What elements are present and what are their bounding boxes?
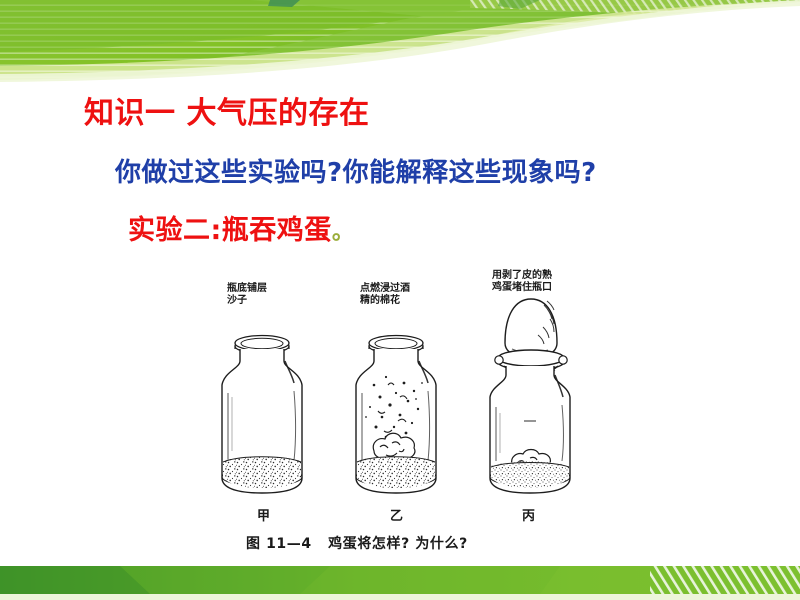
textbook-figure: 瓶底铺层 沙子 点燃浸过酒 精的棉花 用剥了皮的熟 鸡蛋堵住瓶口 甲 乙 丙 图… [200, 265, 600, 560]
bottle-label-yi: 乙 [390, 505, 403, 524]
bottle-bing [490, 299, 570, 493]
annotation-bottle-bing: 用剥了皮的熟 鸡蛋堵住瓶口 [492, 270, 552, 293]
bottle-jia [222, 336, 302, 494]
bottle-label-jia: 甲 [257, 505, 270, 524]
annotation-bottle-yi: 点燃浸过酒 精的棉花 [360, 283, 410, 306]
annotation-bottle-jia: 瓶底铺层 沙子 [227, 283, 267, 306]
experiment-heading-period: 。 [332, 220, 355, 245]
bottom-decorative-banner [0, 562, 800, 600]
subtitle-question: 你做过这些实验吗?你能解释这些现象吗? [115, 152, 597, 189]
bottle-label-bing: 丙 [522, 505, 535, 524]
bottom-edge-strip [0, 594, 800, 600]
page-title: 知识一 大气压的存在 [84, 88, 369, 132]
boiled-egg [505, 299, 557, 358]
top-decorative-banner [0, 0, 800, 92]
bottle-yi [356, 336, 436, 494]
figure-caption: 图 11—4 鸡蛋将怎样? 为什么? [246, 533, 468, 553]
slide-canvas: 知识一 大气压的存在 你做过这些实验吗?你能解释这些现象吗? 实验二:瓶吞鸡蛋。 [0, 0, 800, 600]
experiment-heading-text: 实验二:瓶吞鸡蛋 [128, 215, 332, 246]
experiment-heading: 实验二:瓶吞鸡蛋。 [128, 208, 354, 247]
